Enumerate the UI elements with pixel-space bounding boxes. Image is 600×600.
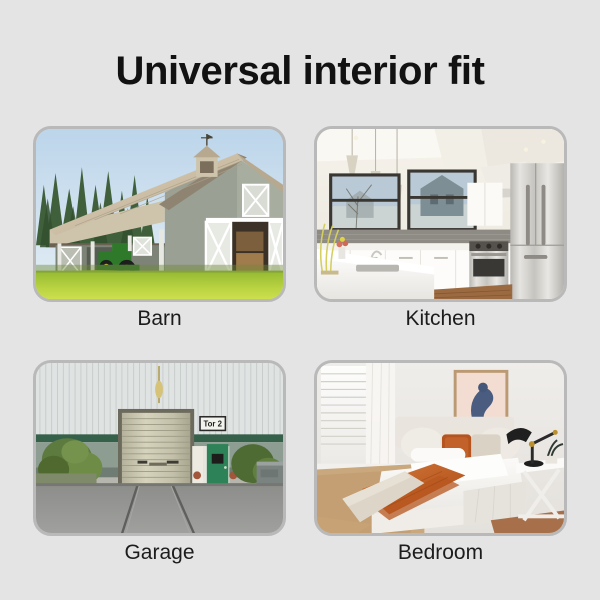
garage-photo: Tor 2 (36, 363, 283, 533)
barn-photo (36, 129, 283, 299)
window-blinds (321, 363, 395, 471)
barn-image-frame[interactable] (33, 126, 286, 302)
page-title: Universal interior fit (0, 48, 600, 94)
bedroom-photo (317, 363, 564, 533)
dumpster (257, 462, 283, 485)
refrigerator (510, 163, 564, 299)
green-door (204, 444, 229, 485)
kitchen-image-frame[interactable] (314, 126, 567, 302)
tor-2-sign: Tor 2 (200, 417, 225, 431)
kitchen-photo (317, 129, 564, 299)
bedroom-image-frame[interactable] (314, 360, 567, 536)
scene-card-bedroom[interactable]: Bedroom (314, 360, 567, 556)
garage-caption: Garage (33, 540, 286, 566)
tor-2-sign-text: Tor 2 (203, 420, 222, 429)
scene-card-grid: Barn (33, 126, 567, 556)
kitchen-caption: Kitchen (314, 306, 567, 332)
product-feature-panel: Universal interior fit (0, 0, 600, 600)
garage-image-frame[interactable]: Tor 2 (33, 360, 286, 536)
scene-card-garage[interactable]: Tor 2 (33, 360, 286, 556)
scene-card-kitchen[interactable]: Kitchen (314, 126, 567, 322)
scene-card-barn[interactable]: Barn (33, 126, 286, 322)
barn-caption: Barn (33, 306, 286, 332)
bedroom-caption: Bedroom (314, 540, 567, 566)
pillows (401, 425, 520, 462)
